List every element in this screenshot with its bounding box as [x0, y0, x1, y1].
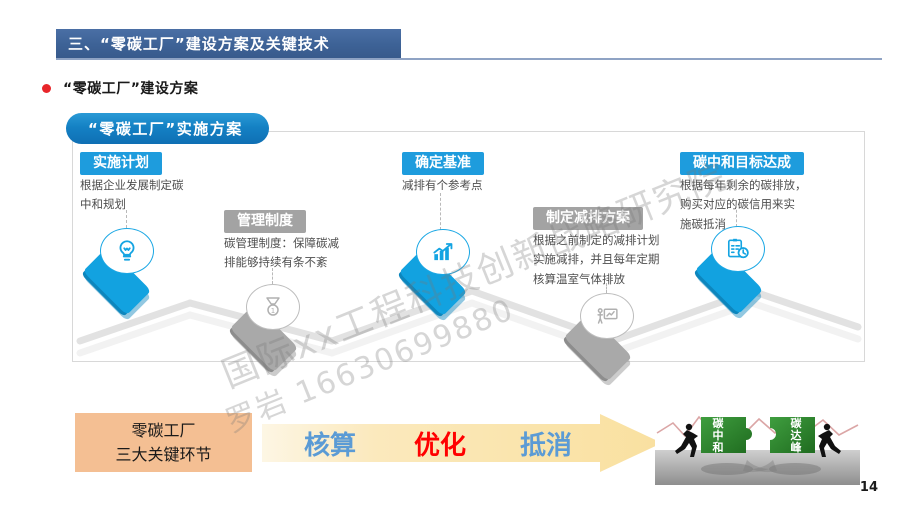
step-word-3: 抵消 [520, 425, 572, 462]
diagram-node-2[interactable]: 管理制度 碳管理制度：保障碳减 排能够持续有条不紊 [224, 210, 339, 272]
node-1-desc-line-1: 根据企业发展制定碳 [80, 177, 184, 194]
node-4-desc-line-2: 实施减排，并且每年定期 [533, 251, 660, 268]
diagram-stage: 实施计划 根据企业发展制定碳 中和规划 管理制度 碳管理制度：保障碳减 排能够持… [72, 131, 865, 362]
svg-text:1: 1 [271, 307, 275, 315]
diagram-node-5[interactable]: 碳中和目标达成 根据每年剩余的碳排放， 购买对应的碳信用来实 施碳抵消 [680, 152, 807, 233]
puzzle-right-char-2: 达 [791, 428, 802, 442]
node-4-desc-line-3: 核算温室气体排放 [533, 271, 660, 288]
node-3-stem [440, 193, 442, 230]
puzzle-left-char-2: 中 [713, 428, 724, 442]
node-5-label: 碳中和目标达成 [680, 152, 804, 175]
section-title-text: 三、“零碳工厂”建设方案及关键技术 [68, 33, 330, 54]
lightbulb-icon [100, 228, 154, 274]
node-2-desc-line-2: 排能够持续有条不紊 [224, 254, 339, 271]
node-2-stem [272, 268, 274, 284]
node-4-label: 制定减排方案 [533, 207, 643, 230]
puzzle-right-char-3: 峰 [791, 440, 803, 454]
diagram-node-4[interactable]: 制定减排方案 根据之前制定的减排计划 实施减排，并且每年定期 核算温室气体排放 [533, 207, 660, 288]
bottom-label-line-1: 零碳工厂 [131, 419, 195, 442]
node-4-desc-line-1: 根据之前制定的减排计划 [533, 232, 660, 249]
puzzle-left-char-3: 和 [713, 440, 724, 454]
node-1-label: 实施计划 [80, 152, 162, 175]
section-title-bar: 三、“零碳工厂”建设方案及关键技术 [56, 29, 401, 58]
presentation-person-icon [580, 293, 634, 339]
puzzle-scene: 碳 中 和 碳 达 峰 [655, 405, 860, 485]
diagram-node-1[interactable]: 实施计划 根据企业发展制定碳 中和规划 [80, 152, 184, 214]
node-5-desc-line-1: 根据每年剩余的碳排放， [680, 177, 807, 194]
bottom-label-line-2: 三大关键环节 [115, 443, 211, 466]
node-1-stem [126, 210, 128, 228]
node-5-stem [736, 205, 738, 227]
node-4-stem [606, 283, 608, 293]
arrow-band-words: 核算 优化 抵消 [262, 414, 662, 472]
slide-canvas: 三、“零碳工厂”建设方案及关键技术 “零碳工厂”建设方案 [0, 0, 900, 507]
medal-icon: 1 [246, 284, 300, 330]
process-arrow-band: 核算 优化 抵消 [262, 414, 662, 472]
carbon-peak-neutral-illustration: 碳 中 和 碳 达 峰 [655, 405, 860, 485]
node-3-label: 确定基准 [402, 152, 484, 175]
diagram-banner-text: “零碳工厂”实施方案 [88, 118, 243, 139]
clipboard-clock-icon [711, 226, 765, 272]
bullet-dot-icon [42, 84, 51, 93]
diagram-banner: “零碳工厂”实施方案 [66, 113, 269, 144]
bottom-key-links-label: 零碳工厂 三大关键环节 [75, 413, 252, 472]
node-5-desc-line-2: 购买对应的碳信用来实 [680, 196, 807, 213]
page-number: 14 [860, 480, 878, 495]
node-2-desc-line-1: 碳管理制度：保障碳减 [224, 235, 339, 252]
step-word-2: 优化 [414, 425, 466, 462]
bar-chart-growth-icon [416, 229, 470, 275]
node-2-label: 管理制度 [224, 210, 306, 233]
title-underline [56, 58, 882, 60]
node-3-desc-line-1: 减排有个参考点 [402, 177, 484, 194]
puzzle-left-char-1: 碳 [713, 416, 725, 430]
bullet-heading-text: “零碳工厂”建设方案 [63, 78, 198, 98]
diagram-node-3[interactable]: 确定基准 减排有个参考点 [402, 152, 484, 194]
puzzle-right-char-1: 碳 [791, 416, 803, 430]
step-word-1: 核算 [304, 425, 356, 462]
node-1-desc-line-2: 中和规划 [80, 196, 184, 213]
bullet-heading: “零碳工厂”建设方案 [42, 78, 198, 98]
